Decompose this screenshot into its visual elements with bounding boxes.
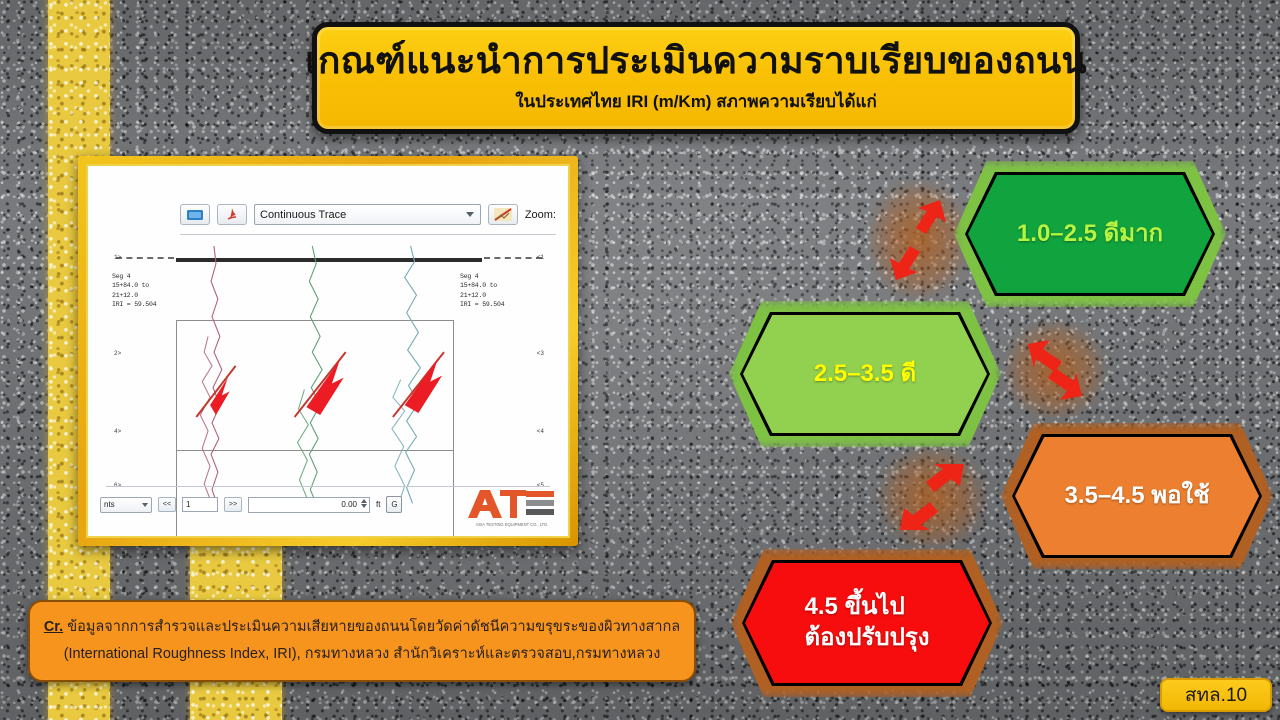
trace-chart: Seg 4 15+84.0 to 21+12.0 IRI = 59.504 Se… (98, 242, 560, 478)
caption-cr-label: Cr. (44, 619, 63, 635)
hexagon-rating-poor[interactable]: 4.5 ขึ้นไป ต้องปรับปรุง (742, 560, 992, 686)
prev-page-button[interactable]: << (158, 497, 176, 512)
hexagon-label: 1.0–2.5 ดีมาก (1003, 219, 1177, 250)
slide-canvas: เกณฑ์แนะนำการประเมินความราบเรียบของถนน ใ… (0, 0, 1280, 720)
hexagon-label-group: 4.5 ขึ้นไป ต้องปรับปรุง (791, 592, 944, 653)
hexagon-face: 1.0–2.5 ดีมาก (968, 175, 1212, 293)
corner-badge-label: สทล.10 (1185, 680, 1247, 710)
arrow-orange-to-red (890, 458, 974, 538)
units-select[interactable]: nts (100, 497, 152, 513)
page-number-input[interactable]: 1 (182, 497, 218, 512)
chevron-down-icon (466, 212, 474, 217)
screenshot-panel: Continuous Trace Zoom: (86, 164, 570, 538)
caption-line-1-text: ข้อมูลจากการสำรวจและประเมินความเสียหายขอ… (67, 619, 680, 635)
next-page-button[interactable]: >> (224, 497, 242, 512)
offset-unit-label: ft (376, 500, 380, 509)
trace-lines (98, 242, 560, 505)
hexagon-label: 2.5–3.5 ดี (800, 359, 930, 390)
toolbar-divider (180, 234, 556, 235)
hexagon-rating-fair[interactable]: 3.5–4.5 พอใช้ (1012, 434, 1262, 558)
caption-line-1: Cr. ข้อมูลจากการสำรวจและประเมินความเสียห… (44, 619, 680, 636)
offset-spinner[interactable]: 0.00 (248, 497, 370, 513)
hexagon-face: 2.5–3.5 ดี (743, 315, 987, 433)
title-banner: เกณฑ์แนะนำการประเมินความราบเรียบของถนน ใ… (312, 22, 1080, 134)
arrow-green-to-lightgreen (880, 192, 958, 288)
app-toolbar: Continuous Trace Zoom: (180, 204, 556, 225)
image-export-icon[interactable] (180, 204, 210, 225)
zoom-label: Zoom: (525, 209, 556, 221)
pdf-export-icon[interactable] (217, 204, 247, 225)
arrow-lightgreen-to-orange (1016, 332, 1094, 408)
hexagon-rating-good[interactable]: 2.5–3.5 ดี (740, 312, 990, 436)
page-title: เกณฑ์แนะนำการประเมินความราบเรียบของถนน (305, 40, 1087, 83)
ate-logo: ASIA TESTING EQUIPMENT CO., LTD. (464, 484, 560, 530)
page-subtitle: ในประเทศไทย IRI (m/Km) สภาพความเรียบได้แ… (515, 92, 876, 112)
hexagon-face: 3.5–4.5 พอใช้ (1015, 437, 1259, 555)
corner-badge: สทล.10 (1160, 678, 1272, 712)
ate-logo-subtext: ASIA TESTING EQUIPMENT CO., LTD. (476, 522, 549, 527)
offset-value: 0.00 (341, 500, 357, 509)
trace-view-select-value: Continuous Trace (260, 209, 346, 221)
trace-view-select[interactable]: Continuous Trace (254, 204, 481, 225)
zoom-tool-icon[interactable] (488, 204, 518, 225)
spinner-arrows-icon[interactable] (361, 499, 367, 508)
units-select-value: nts (104, 500, 115, 509)
chevron-down-icon (142, 503, 148, 507)
hexagon-label: 3.5–4.5 พอใช้ (1051, 481, 1224, 512)
go-button[interactable]: G (386, 496, 402, 513)
hexagon-rating-very-good[interactable]: 1.0–2.5 ดีมาก (965, 172, 1215, 296)
source-caption: Cr. ข้อมูลจากการสำรวจและประเมินความเสียห… (28, 600, 696, 682)
hexagon-label: 4.5 ขึ้นไป (805, 593, 905, 620)
hexagon-label-line2: ต้องปรับปรุง (805, 624, 930, 651)
caption-line-2: (International Roughness Index, IRI), กร… (64, 646, 661, 663)
hexagon-face: 4.5 ขึ้นไป ต้องปรับปรุง (745, 563, 989, 683)
screenshot-panel-frame: Continuous Trace Zoom: (78, 156, 578, 546)
